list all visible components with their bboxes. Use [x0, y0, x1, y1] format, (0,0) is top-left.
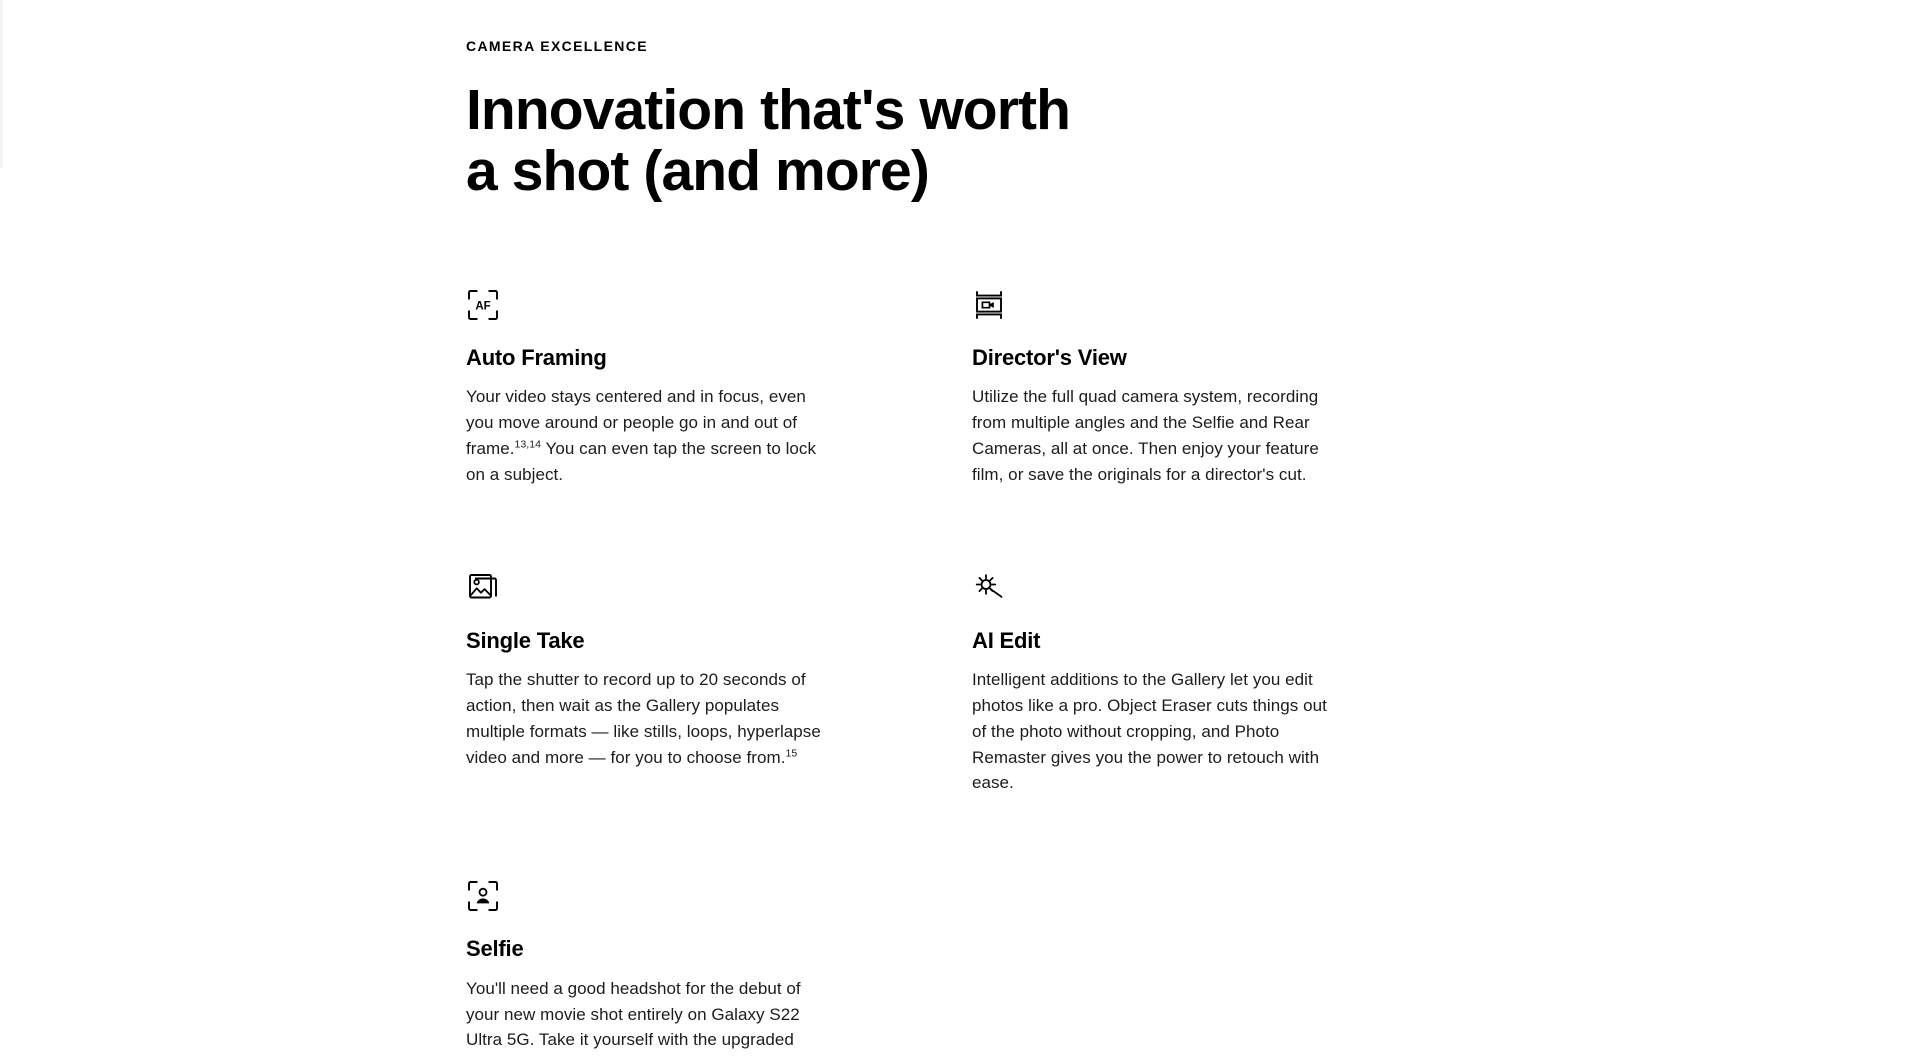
feature-body-part-1: You'll need a good headshot for the debu…	[466, 979, 801, 1056]
feature-card-selfie: Selfie You'll need a good headshot for t…	[466, 879, 826, 1056]
feature-title: Director's View	[972, 344, 1332, 372]
feature-title: AI Edit	[972, 627, 1332, 655]
feature-card-directors-view: Director's View Utilize the full quad ca…	[972, 288, 1332, 571]
feature-body: Tap the shutter to record up to 20 secon…	[466, 667, 826, 770]
svg-text:AF: AF	[475, 300, 490, 312]
person-focus-frame-icon	[466, 879, 500, 913]
feature-card-ai-edit: AI Edit Intelligent additions to the Gal…	[972, 571, 1332, 880]
feature-body: Your video stays centered and in focus, …	[466, 384, 826, 487]
stacked-photos-icon	[466, 571, 500, 605]
feature-body-part-1: Tap the shutter to record up to 20 secon…	[466, 670, 821, 766]
feature-body-part-1: Utilize the full quad camera system, rec…	[972, 387, 1319, 483]
left-edge-strip	[0, 0, 3, 168]
feature-card-single-take: Single Take Tap the shutter to record up…	[466, 571, 826, 880]
camera-excellence-section: CAMERA EXCELLENCE Innovation that's wort…	[0, 0, 1920, 1056]
magic-retouch-sun-icon	[972, 571, 1006, 605]
section-eyebrow: CAMERA EXCELLENCE	[466, 38, 1466, 55]
auto-focus-frame-icon: AF	[466, 288, 500, 322]
feature-grid: AF Auto Framing Your video stays centere…	[466, 288, 1466, 1056]
content-column: CAMERA EXCELLENCE Innovation that's wort…	[466, 0, 1466, 1056]
page-title: Innovation that's worth a shot (and more…	[466, 80, 1166, 202]
feature-title: Selfie	[466, 935, 826, 963]
feature-body: Utilize the full quad camera system, rec…	[972, 384, 1332, 487]
feature-footnote: 15	[786, 747, 798, 759]
feature-title: Single Take	[466, 627, 826, 655]
feature-body: You'll need a good headshot for the debu…	[466, 976, 826, 1056]
feature-title: Auto Framing	[466, 344, 826, 372]
feature-body-part-1: Intelligent additions to the Gallery let…	[972, 670, 1327, 792]
feature-footnote: 13,14	[514, 438, 541, 450]
headline-line-2: a shot (and more)	[466, 141, 1166, 202]
headline-line-1: Innovation that's worth	[466, 80, 1166, 141]
film-strip-video-icon	[972, 288, 1006, 322]
feature-card-auto-framing: AF Auto Framing Your video stays centere…	[466, 288, 826, 571]
feature-body: Intelligent additions to the Gallery let…	[972, 667, 1332, 796]
